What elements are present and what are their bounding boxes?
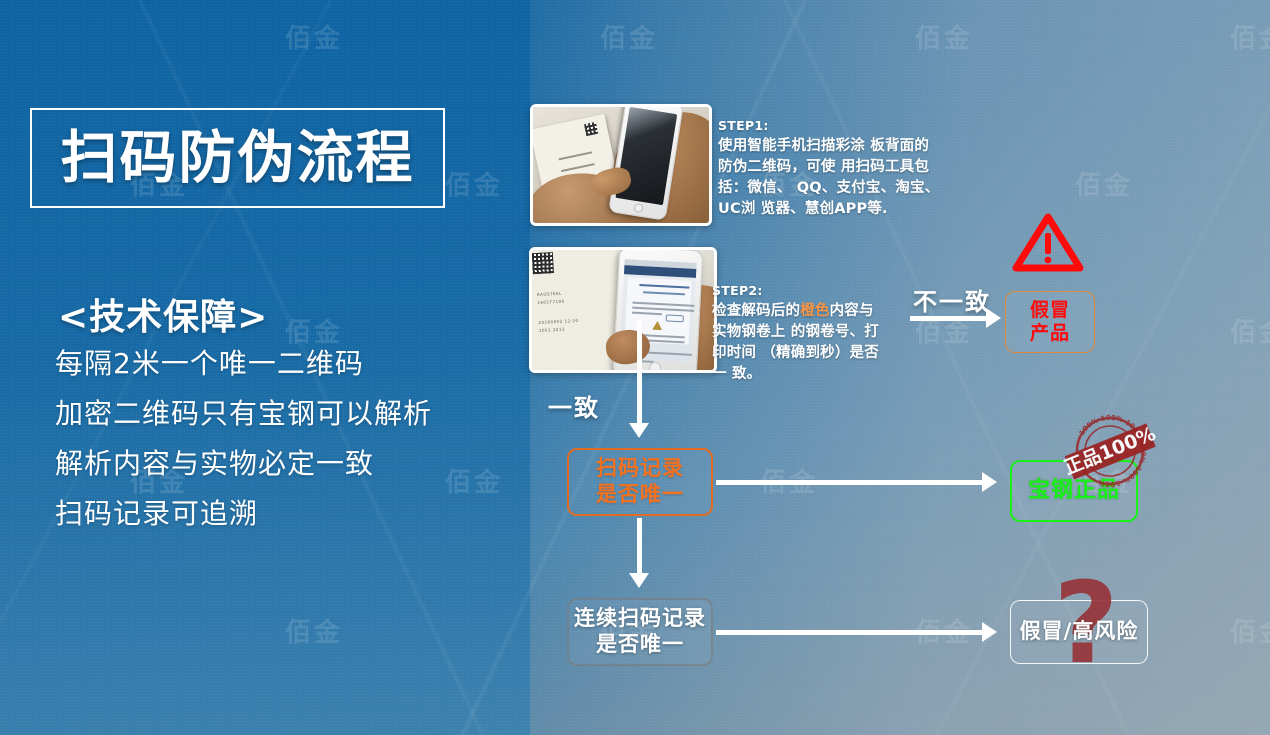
title-box: 扫码防伪流程 (30, 108, 445, 208)
step1-body: 使用智能手机扫描彩涂 板背面的 防伪二维码，可使 用扫码工具包 括：微信、 QQ… (718, 136, 958, 220)
list-item: 解析内容与实物必定一致 (55, 450, 495, 478)
watermark: 佰金 (285, 612, 343, 649)
watermark: 佰金 (1230, 18, 1270, 55)
watermark: 佰金 (1230, 612, 1270, 649)
step2-line: 一 致。 (712, 364, 952, 385)
result-box-fake-or-high-risk-label: 假冒/高风险 (1020, 619, 1139, 645)
result-box-fake-product-label: 假冒 产品 (1030, 299, 1070, 345)
step1-description: STEP1: 使用智能手机扫描彩涂 板背面的 防伪二维码，可使 用扫码工具包 括… (718, 118, 958, 220)
slide-canvas: 佰金 佰金 佰金 佰金 佰金 佰金 佰金 佰金 佰金 佰金 佰金 佰金 佰金 佰… (0, 0, 1270, 735)
arrow-to-fake-product (910, 316, 988, 321)
step2-highlight: 橙色 (800, 303, 829, 319)
box-line-1: 扫码记录 (596, 456, 684, 480)
box-line-2: 产品 (1030, 322, 1070, 344)
step1-label: STEP1: (718, 118, 958, 133)
arrow-match-vertical-head (629, 423, 649, 438)
page-title: 扫码防伪流程 (61, 130, 415, 187)
subtitle: <技术保障> (58, 288, 268, 340)
arrow-to-risk (716, 630, 984, 635)
arrow-to-genuine-head (982, 472, 997, 492)
result-box-fake-product[interactable]: 假冒 产品 (1005, 291, 1095, 353)
phone-scanning-label-photo (530, 104, 712, 226)
phone-scan-result-photo: BAOSTEEL 1601T7190 20160902 12:30 1001 2… (529, 247, 717, 373)
box-line-2: 是否唯一 (596, 482, 684, 506)
list-item: 扫码记录可追溯 (55, 500, 495, 528)
watermark: 佰金 (600, 18, 658, 55)
step1-line: 防伪二维码，可使 用扫码工具包 (718, 157, 958, 178)
arrow-to-fake-product-head (986, 308, 1001, 328)
watermark: 佰金 (445, 165, 503, 202)
warning-triangle-icon (1012, 212, 1084, 274)
step2-line: 印时间 （精确到秒）是否 (712, 343, 952, 364)
step2-line: 实物钢卷上 的钢卷号、打 (712, 322, 952, 343)
watermark: 佰金 (1230, 312, 1270, 349)
qr-code-icon (532, 252, 554, 274)
step1-line: 括：微信、 QQ、支付宝、淘宝、 (718, 178, 958, 199)
edge-label-match: 一致 (548, 388, 600, 423)
watermark: 佰金 (285, 18, 343, 55)
box-line-1: 假冒 (1030, 299, 1070, 321)
arrow-to-genuine (716, 480, 984, 485)
watermark: 佰金 (915, 18, 973, 55)
guarantee-list: 每隔2米一个唯一二维码 加密二维码只有宝钢可以解析 解析内容与实物必定一致 扫码… (55, 350, 495, 550)
qr-code-icon (584, 122, 598, 136)
arrow-to-continuous-head (629, 573, 649, 588)
authenticity-stamp-icon: 100% 100% 100% 100% 100% 100% 正品100% (1058, 408, 1162, 494)
step1-line: UC浏 览器、慧创APP等. (718, 199, 958, 220)
decision-box-scan-record-unique[interactable]: 扫码记录 是否唯一 (567, 448, 713, 516)
decision-box-continuous-scan-unique[interactable]: 连续扫码记录 是否唯一 (567, 598, 713, 666)
step1-line: 使用智能手机扫描彩涂 板背面的 (718, 136, 958, 157)
arrow-to-risk-head (982, 622, 997, 642)
box-line-2: 是否唯一 (596, 632, 684, 656)
list-item: 每隔2米一个唯一二维码 (55, 350, 495, 378)
box-line-1: 连续扫码记录 (574, 606, 706, 630)
watermark: 佰金 (1075, 165, 1133, 202)
list-item: 加密二维码只有宝钢可以解析 (55, 400, 495, 428)
decision-box-scan-record-unique-label: 扫码记录 是否唯一 (596, 456, 684, 507)
edge-label-mismatch: 不一致 (913, 282, 991, 317)
decision-box-continuous-scan-unique-label: 连续扫码记录 是否唯一 (574, 606, 706, 657)
step2-line-suffix: 内容与 (830, 303, 874, 319)
arrow-to-continuous (637, 518, 642, 574)
arrow-match-vertical (637, 320, 642, 424)
step2-line-prefix: 检查解码后的 (712, 303, 800, 319)
watermark: 佰金 (285, 312, 343, 349)
